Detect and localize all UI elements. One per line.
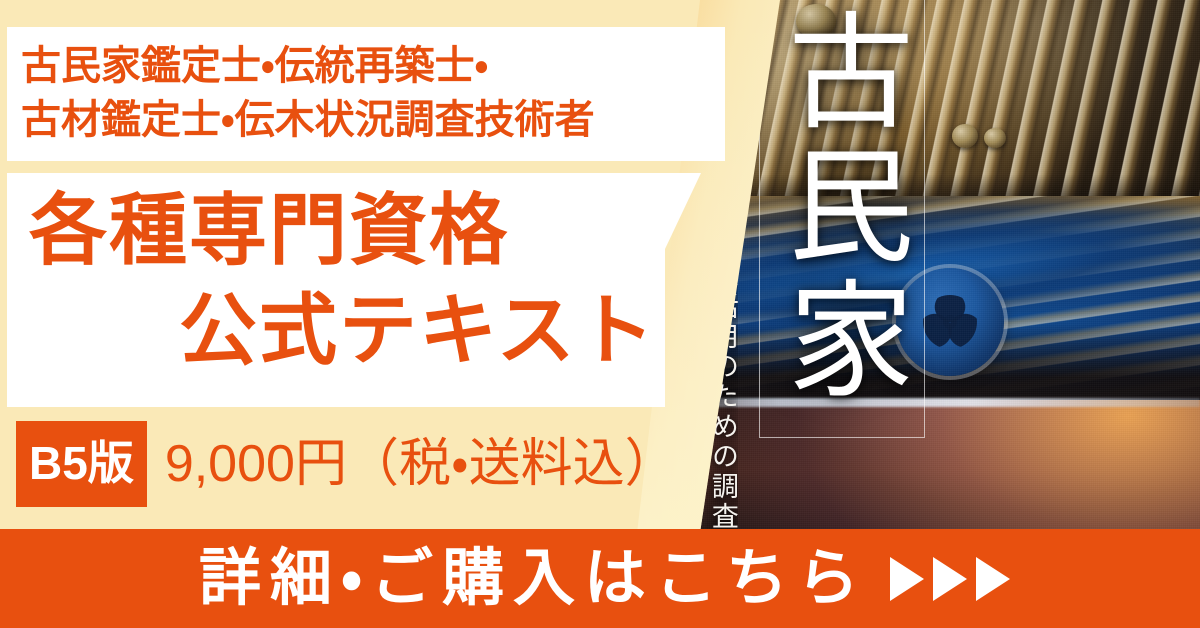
cta-arrow-group xyxy=(890,557,1010,601)
triangle-right-icon xyxy=(933,557,967,601)
photo-family-crest-icon xyxy=(896,268,1004,376)
qualifications-line-2: 古材鑑定士・伝木状況調査技術者 xyxy=(21,94,725,148)
main-title-line-2: 公式テキスト xyxy=(179,291,657,369)
cta-label: 詳細・ご購入はこちら xyxy=(190,548,868,610)
price-text: 9,000円（税・送料込） xyxy=(165,438,677,490)
title-panel-notch xyxy=(665,173,701,249)
triangle-right-icon xyxy=(890,557,924,601)
photo-carving-knob xyxy=(952,124,978,148)
qualifications-line-1: 古民家鑑定士・伝統再築士・ xyxy=(21,40,725,94)
triangle-right-icon xyxy=(976,557,1010,601)
title-panel: 各種専門資格 公式テキスト xyxy=(7,173,665,407)
size-badge: B5版 xyxy=(16,421,147,507)
price-row: B5版 9,000円（税・送料込） xyxy=(16,421,677,507)
qualifications-panel: 古民家鑑定士・伝統再築士・ 古材鑑定士・伝木状況調査技術者 xyxy=(7,27,725,161)
main-title-line-1: 各種専門資格 xyxy=(29,191,509,269)
cta-bar[interactable]: 詳細・ご購入はこちら xyxy=(0,529,1200,628)
promo-banner: 古民家 伝統構法 古民家活用のための調査と再生の 古民家鑑定士・伝統再築士・ 古… xyxy=(0,0,1200,628)
photo-carving-knob xyxy=(984,128,1006,148)
book-cover-title: 古民家 xyxy=(780,6,906,408)
